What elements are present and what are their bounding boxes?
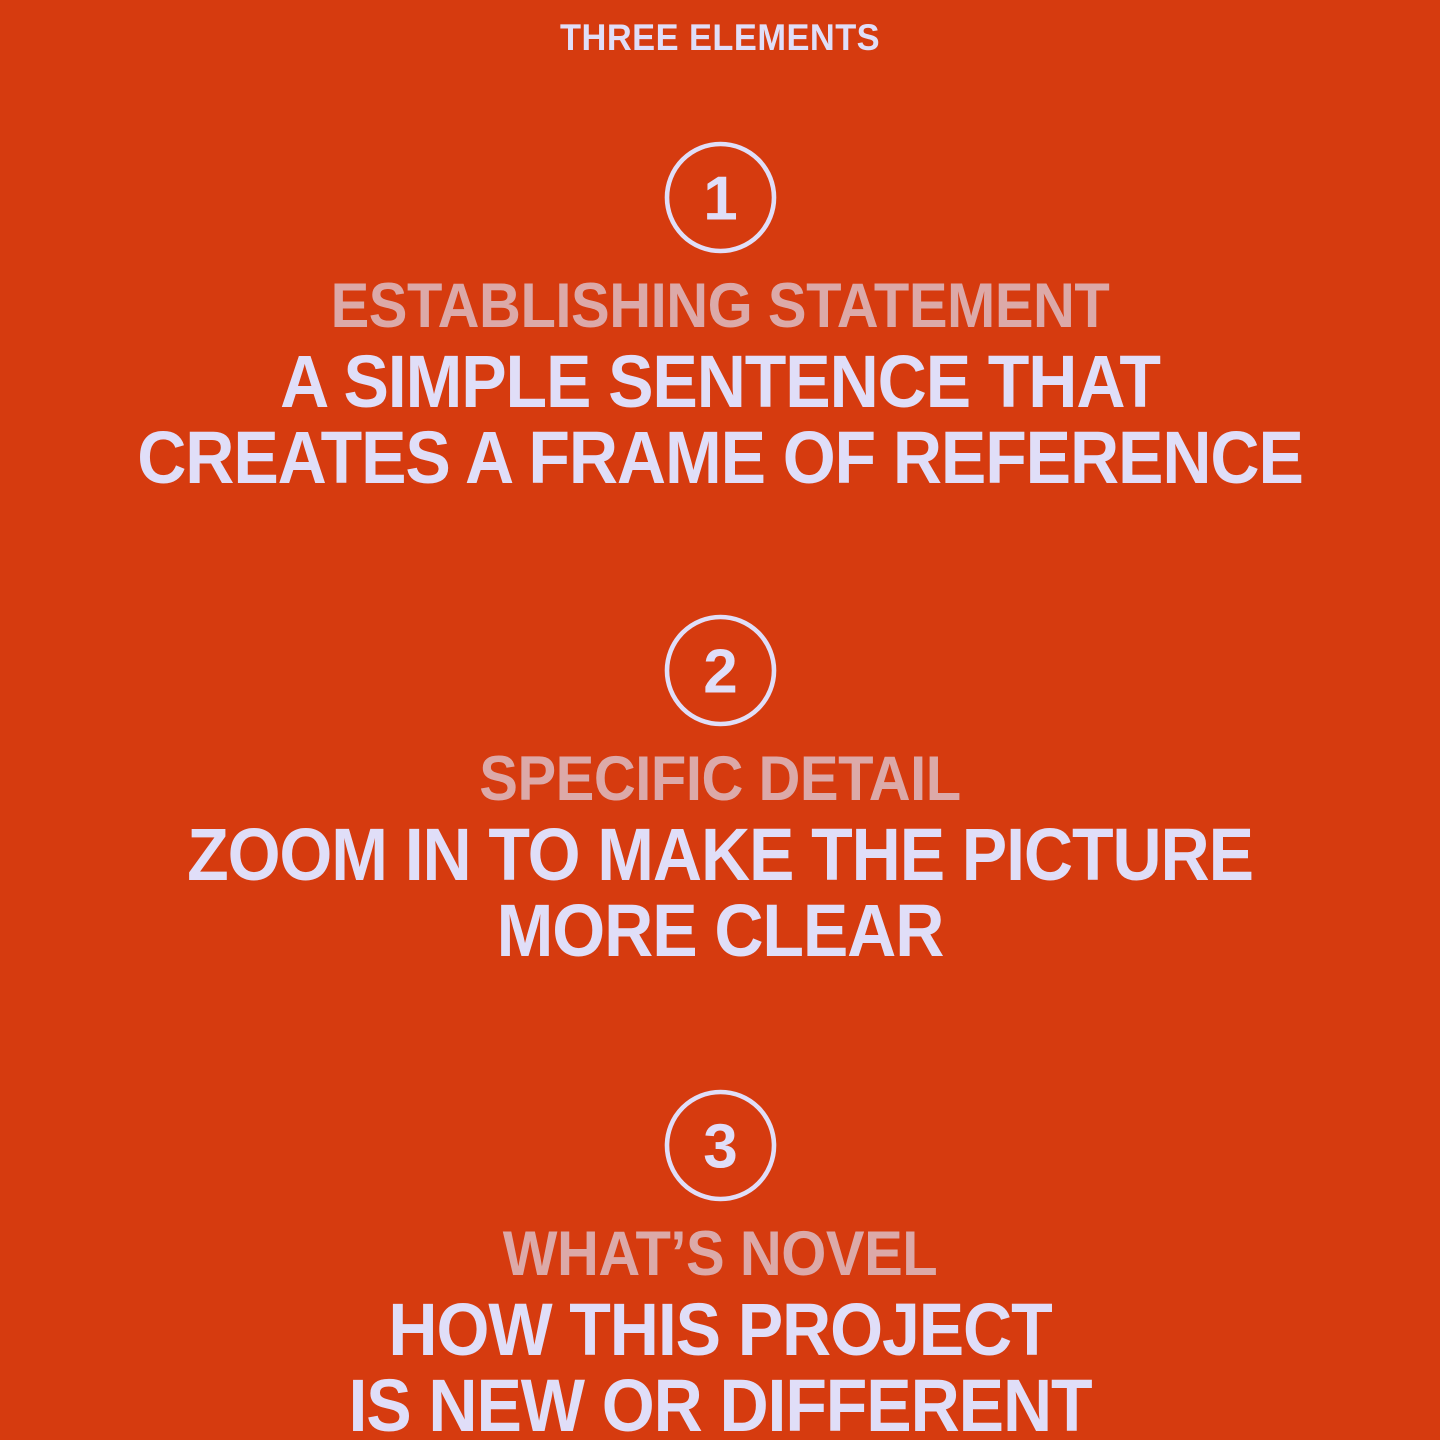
number-badge-2-icon: 2 (664, 614, 777, 727)
sections-list: 1 ESTABLISHING STATEMENT A SIMPLE SENTEN… (0, 56, 1440, 1440)
section-body-line: HOW THIS PROJECT (58, 1293, 1383, 1367)
badge-number-1: 1 (703, 165, 737, 234)
section-text-block: ESTABLISHING STATEMENT A SIMPLE SENTENCE… (0, 275, 1440, 495)
section-body-line: A SIMPLE SENTENCE THAT (58, 345, 1383, 419)
section-body-line: ZOOM IN TO MAKE THE PICTURE (58, 818, 1383, 892)
number-badge-3-icon: 3 (664, 1089, 777, 1202)
section-text-block: WHAT’S NOVEL HOW THIS PROJECT IS NEW OR … (0, 1223, 1440, 1440)
section-body-line: IS NEW OR DIFFERENT (58, 1369, 1383, 1440)
page-title: THREE ELEMENTS (560, 19, 880, 56)
section-heading: ESTABLISHING STATEMENT (58, 275, 1383, 338)
section-body-line: CREATES A FRAME OF REFERENCE (58, 421, 1383, 495)
badge-number-2: 2 (703, 638, 737, 707)
section-item: 1 ESTABLISHING STATEMENT A SIMPLE SENTEN… (0, 141, 1440, 495)
number-badge-1-icon: 1 (664, 141, 777, 254)
badge-number-3: 3 (703, 1113, 737, 1182)
section-text-block: SPECIFIC DETAIL ZOOM IN TO MAKE THE PICT… (0, 748, 1440, 968)
section-item: 2 SPECIFIC DETAIL ZOOM IN TO MAKE THE PI… (0, 614, 1440, 968)
section-heading: WHAT’S NOVEL (58, 1223, 1383, 1286)
section-heading: SPECIFIC DETAIL (58, 748, 1383, 811)
section-body-line: MORE CLEAR (58, 894, 1383, 968)
section-item: 3 WHAT’S NOVEL HOW THIS PROJECT IS NEW O… (0, 1089, 1440, 1440)
poster-canvas: THREE ELEMENTS 1 ESTABLISHING STATEMENT … (0, 0, 1440, 1440)
